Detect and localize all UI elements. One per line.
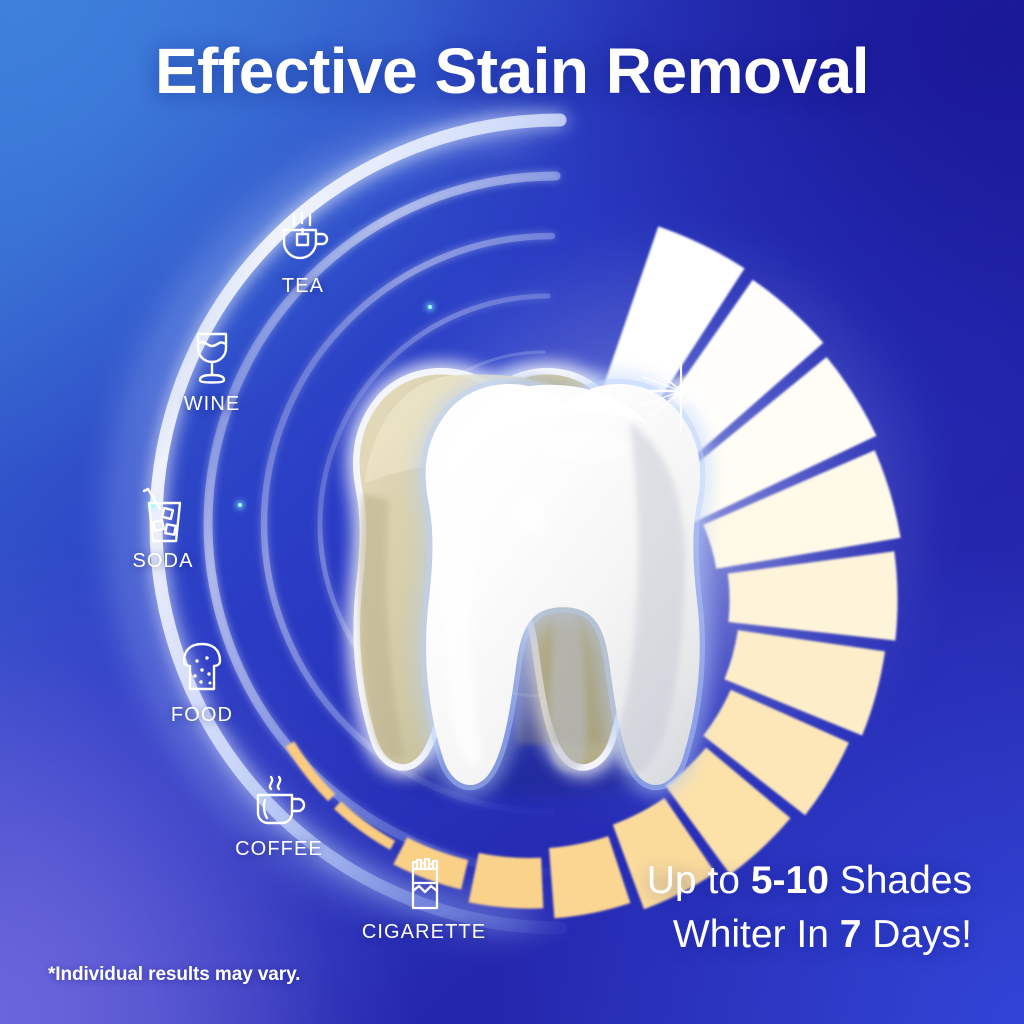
cigarette-pack-icon	[344, 858, 504, 914]
coffee-cup-icon	[199, 775, 359, 831]
stain-source-label: WINE	[132, 393, 292, 416]
stain-source-food[interactable]: FOOD	[122, 641, 282, 727]
bread-slice-icon	[122, 641, 282, 697]
stain-source-cigarette[interactable]: CIGARETTE	[344, 858, 504, 944]
claim-line-2: Whiter In 7 Days!	[647, 908, 972, 962]
whitening-claim: Up to 5-10 Shades Whiter In 7 Days!	[647, 854, 972, 962]
disclaimer-text: *Individual results may vary.	[48, 964, 300, 986]
stain-source-wine[interactable]: WINE	[132, 330, 292, 416]
claim-line2-suffix: Days!	[861, 913, 972, 956]
claim-days-value: 7	[840, 913, 862, 956]
stain-source-label: SODA	[83, 550, 243, 573]
stain-source-label: FOOD	[122, 704, 282, 727]
claim-line1-prefix: Up to	[647, 859, 751, 902]
soda-glass-icon	[83, 487, 243, 543]
claim-line2-prefix: Whiter In	[673, 913, 840, 956]
stain-source-soda[interactable]: SODA	[83, 487, 243, 573]
stain-removal-infographic: Effective Stain Removal TEA	[0, 0, 1024, 1024]
stain-source-label: TEA	[223, 275, 383, 298]
teacup-icon	[223, 212, 383, 268]
wine-glass-icon	[132, 330, 292, 386]
claim-shades-value: 5-10	[751, 859, 829, 902]
claim-line1-suffix: Shades	[829, 859, 972, 902]
stain-source-coffee[interactable]: COFFEE	[199, 775, 359, 861]
claim-line-1: Up to 5-10 Shades	[647, 854, 972, 908]
stain-source-label: CIGARETTE	[344, 921, 504, 944]
stain-source-label: COFFEE	[199, 838, 359, 861]
accent-dot	[428, 305, 432, 309]
stain-source-tea[interactable]: TEA	[223, 212, 383, 298]
page-title: Effective Stain Removal	[0, 38, 1024, 105]
